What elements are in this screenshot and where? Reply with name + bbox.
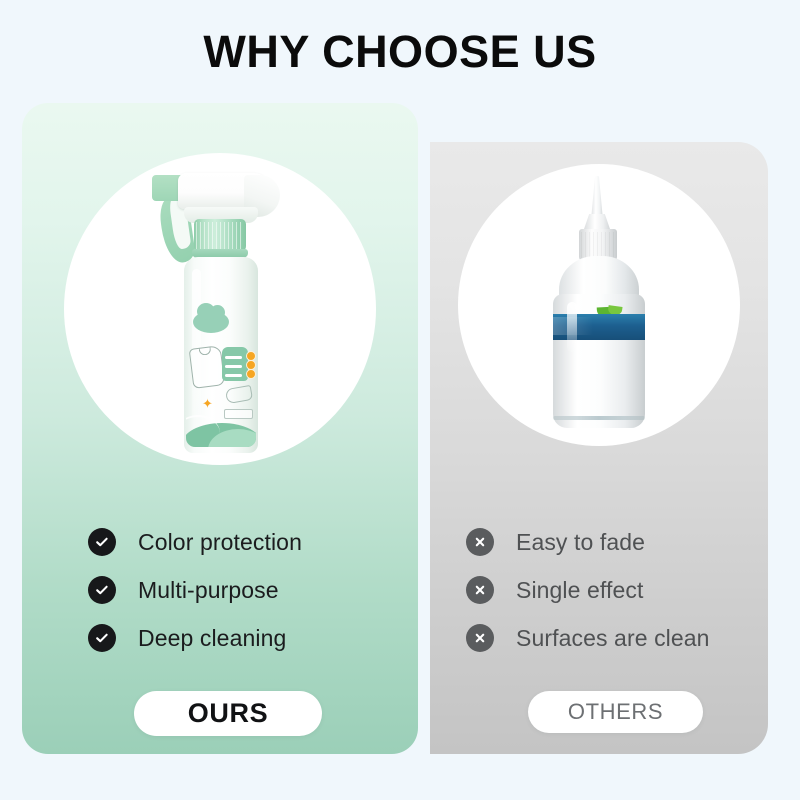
feature-label: Deep cleaning bbox=[138, 625, 286, 652]
label-feature-bars bbox=[222, 347, 248, 381]
cross-icon bbox=[466, 576, 494, 604]
cross-icon bbox=[466, 624, 494, 652]
list-item: Single effect bbox=[466, 566, 766, 614]
label-cloud-icon bbox=[193, 311, 229, 333]
others-badge-label: OTHERS bbox=[568, 699, 663, 725]
ours-badge: OURS bbox=[134, 691, 322, 736]
ours-panel: ✦ Color protection bbox=[22, 103, 418, 754]
list-item: Surfaces are clean bbox=[466, 614, 766, 662]
ours-product-image-spray-bottle: ✦ bbox=[132, 161, 312, 461]
label-shoe-icon bbox=[225, 385, 253, 404]
ours-badge-label: OURS bbox=[188, 698, 268, 729]
list-item: Deep cleaning bbox=[88, 614, 408, 662]
label-text-strip bbox=[224, 409, 253, 419]
cross-icon bbox=[466, 528, 494, 556]
feature-label: Surfaces are clean bbox=[516, 625, 710, 652]
ours-feature-list: Color protection Multi-purpose Deep clea… bbox=[88, 518, 408, 662]
others-panel: Easy to fade Single effect Surfaces are … bbox=[430, 142, 768, 754]
feature-label: Color protection bbox=[138, 529, 302, 556]
spray-bottle-label: ✦ bbox=[186, 301, 256, 447]
bottle-applicator-tip bbox=[591, 176, 603, 220]
list-item: Color protection bbox=[88, 518, 408, 566]
spray-ribbed-collar bbox=[194, 219, 246, 253]
check-icon bbox=[88, 624, 116, 652]
others-product-image-squeeze-bottle bbox=[523, 176, 675, 436]
label-shirt-icon bbox=[189, 345, 226, 389]
list-item: Easy to fade bbox=[466, 518, 766, 566]
feature-label: Easy to fade bbox=[516, 529, 645, 556]
label-sparkle-icon: ✦ bbox=[202, 397, 213, 410]
label-orange-dot-icon bbox=[246, 369, 256, 379]
bottle-highlight bbox=[567, 302, 577, 352]
list-item: Multi-purpose bbox=[88, 566, 408, 614]
bottle-base-line bbox=[553, 416, 645, 420]
check-icon bbox=[88, 528, 116, 556]
others-feature-list: Easy to fade Single effect Surfaces are … bbox=[466, 518, 766, 662]
page-title: WHY CHOOSE US bbox=[0, 26, 800, 78]
others-badge: OTHERS bbox=[528, 691, 703, 733]
feature-label: Single effect bbox=[516, 577, 643, 604]
check-icon bbox=[88, 576, 116, 604]
why-choose-us-infographic: WHY CHOOSE US ✦ bbox=[0, 0, 800, 800]
label-wave-outline bbox=[186, 415, 220, 433]
feature-label: Multi-purpose bbox=[138, 577, 279, 604]
